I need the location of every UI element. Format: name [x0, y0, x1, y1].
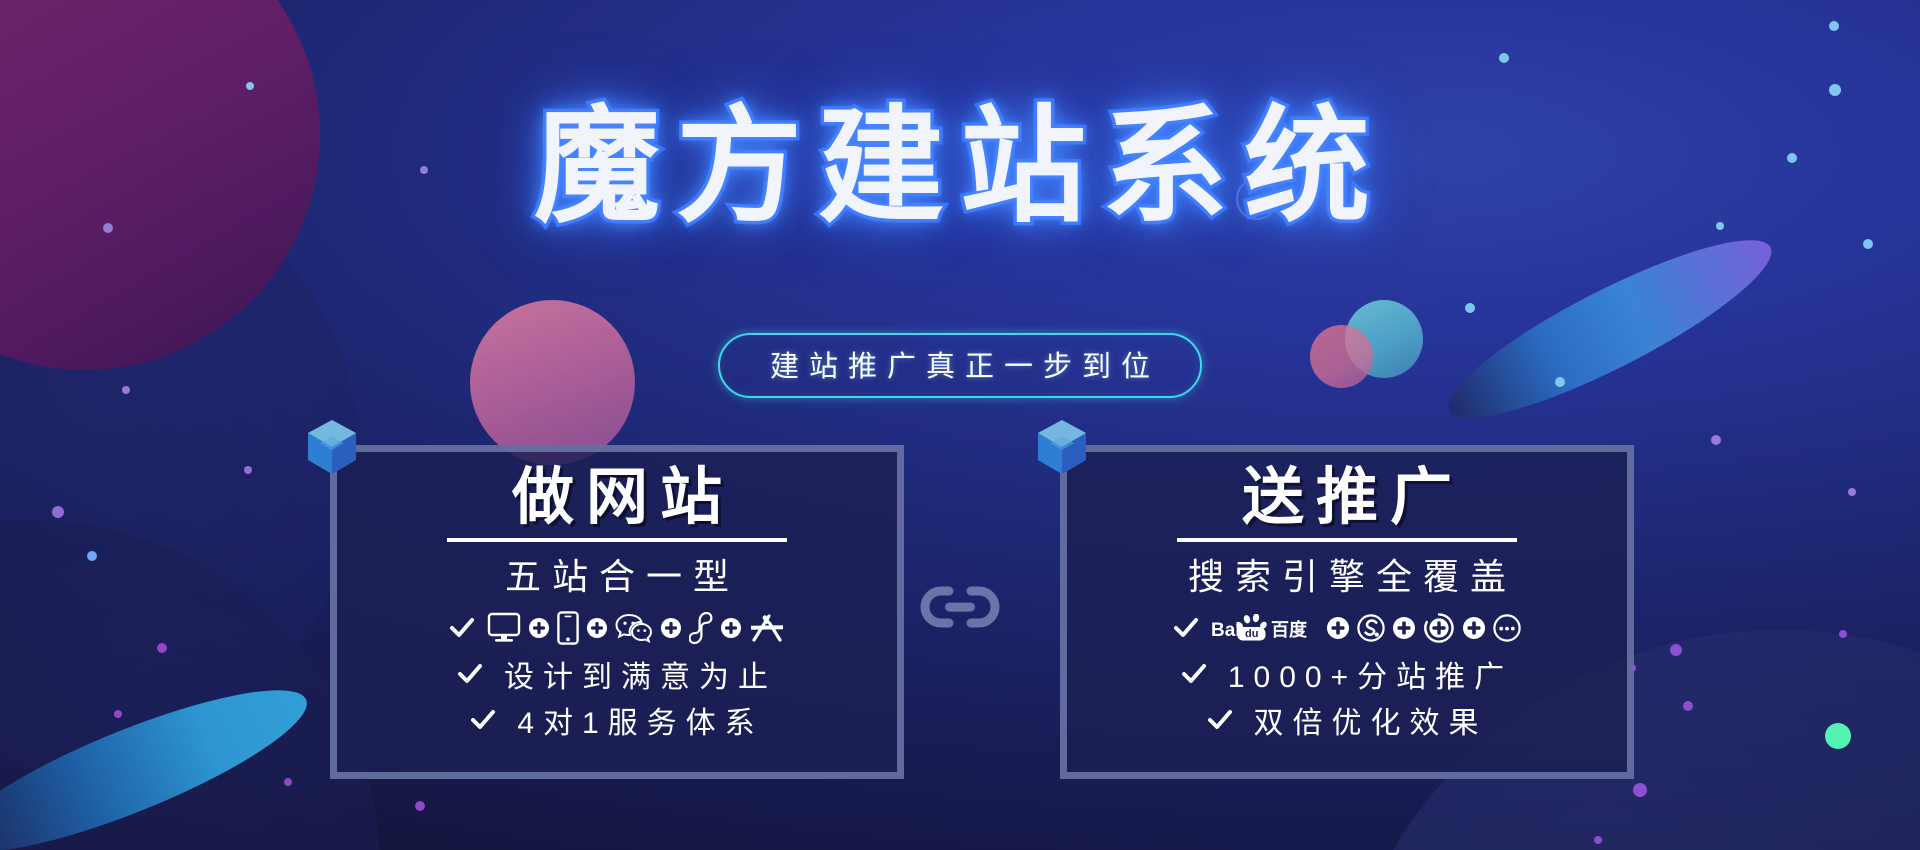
banner-canvas: 魔方建站系统 建站推广真正一步到位 做网站 五站合一型: [0, 0, 1920, 850]
chain-link-icon: [919, 583, 1001, 631]
panel-left-headline: 做网站: [500, 464, 734, 529]
check-icon: [449, 615, 475, 641]
feature-label: 双倍优化效果: [1245, 698, 1488, 742]
feature-row-design: 设计到满意为止: [457, 654, 777, 694]
panel-right-content: 送推广 搜索引擎全覆盖 Bai: [1067, 452, 1627, 772]
sogou-icon: [1357, 614, 1385, 642]
baidu-paw-icon: du: [1235, 614, 1268, 641]
panel-left-rule: [447, 538, 787, 542]
panel-right-headline: 送推广: [1230, 464, 1464, 529]
plus-circle-icon: [1392, 616, 1416, 640]
baidu-du-text: du: [1245, 628, 1258, 640]
feature-label: 4对1服务体系: [508, 698, 763, 742]
page-title: 魔方建站系统: [534, 96, 1386, 237]
qihoo360-icon: [1423, 612, 1455, 644]
ellipsis-circle-icon: [1493, 614, 1521, 642]
panel-left-subhead: 五站合一型: [494, 548, 740, 600]
baidu-logo-icon: Bai du 百度: [1211, 614, 1319, 642]
panel-right-features: Bai du 百度: [1067, 608, 1627, 740]
decor-dot: [246, 82, 254, 90]
decor-dot: [1594, 836, 1602, 844]
plus-circle-icon: [1462, 616, 1486, 640]
hero-title-wrap: 魔方建站系统: [0, 96, 1920, 237]
decor-blue-purple-streak: [1432, 213, 1788, 446]
check-icon: [1173, 615, 1199, 641]
decor-dot: [1829, 84, 1841, 96]
search-engine-icon-strip: Bai du 百度: [1211, 612, 1521, 644]
platform-icon-strip: [487, 611, 785, 645]
check-icon: [470, 707, 496, 733]
check-icon: [457, 661, 483, 687]
plus-circle-icon: [528, 617, 550, 639]
mobile-phone-icon: [557, 611, 579, 645]
feature-label: 设计到满意为止: [495, 652, 777, 696]
feature-row-subsites: 1000+分站推广: [1181, 654, 1513, 694]
feature-row-double-effect: 双倍优化效果: [1207, 700, 1488, 740]
decor-dot: [1633, 783, 1647, 797]
panel-right-rule: [1177, 538, 1517, 542]
feature-row-service: 4对1服务体系: [470, 700, 763, 740]
panel-build-website[interactable]: 做网站 五站合一型: [330, 445, 904, 779]
alipay-swirl-icon: [689, 611, 713, 645]
feature-row-search-engines: Bai du 百度: [1173, 608, 1521, 648]
plus-circle-icon: [586, 617, 608, 639]
plus-circle-icon: [1326, 616, 1350, 640]
decor-dot: [284, 778, 292, 786]
check-icon: [1181, 661, 1207, 687]
baidu-latin-text: Bai: [1211, 620, 1241, 641]
decor-dot: [1863, 239, 1873, 249]
baidu-cn-text: 百度: [1271, 619, 1308, 641]
panel-right-subhead: 搜索引擎全覆盖: [1177, 548, 1517, 600]
plus-circle-icon: [720, 617, 742, 639]
decor-dot: [1499, 53, 1509, 63]
wechat-icon: [615, 613, 653, 643]
decor-dot: [1829, 21, 1839, 31]
panel-left-content: 做网站 五站合一型: [337, 452, 897, 772]
panel-free-promotion[interactable]: 送推广 搜索引擎全覆盖 Bai: [1060, 445, 1634, 779]
panel-left-features: 设计到满意为止 4对1服务体系: [337, 608, 897, 740]
feature-label: 1000+分站推广: [1219, 652, 1513, 696]
hero-subtitle-wrap: 建站推广真正一步到位: [0, 333, 1920, 398]
feature-row-platforms: [449, 608, 785, 648]
decor-dot: [415, 801, 425, 811]
check-icon: [1207, 707, 1233, 733]
desktop-monitor-icon: [487, 612, 521, 644]
app-store-icon: [749, 613, 785, 643]
decor-dot: [1465, 303, 1475, 313]
decor-dot: [1711, 435, 1721, 445]
hero-subtitle-pill: 建站推广真正一步到位: [718, 333, 1202, 398]
plus-circle-icon: [660, 617, 682, 639]
